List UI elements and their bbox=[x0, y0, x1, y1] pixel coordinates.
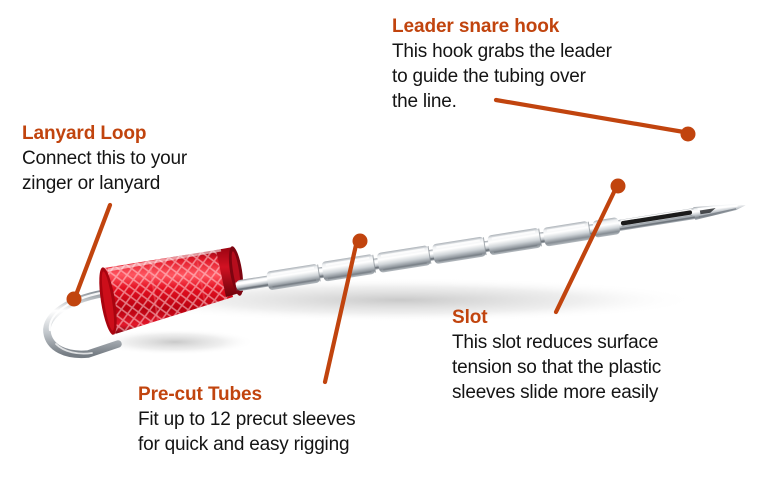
callout-title-pre-cut-tubes: Pre-cut Tubes bbox=[138, 383, 355, 406]
callout-dot-hook bbox=[681, 127, 696, 142]
callout-title-lanyard-loop: Lanyard Loop bbox=[22, 122, 187, 145]
callout-line: the line. bbox=[392, 89, 612, 114]
callout-dot-tubes bbox=[353, 234, 368, 249]
callout-pre-cut-tubes: Pre-cut Tubes Fit up to 12 precut sleeve… bbox=[138, 383, 355, 457]
callout-line: tension so that the plastic bbox=[452, 355, 661, 380]
product-illustration bbox=[0, 0, 768, 482]
callout-body-lanyard-loop: Connect this to your zinger or lanyard bbox=[22, 146, 187, 196]
callout-line: sleeves slide more easily bbox=[452, 380, 661, 405]
callout-body-slot: This slot reduces surface tension so tha… bbox=[452, 330, 661, 405]
callout-line: for quick and easy rigging bbox=[138, 432, 355, 457]
callout-line: zinger or lanyard bbox=[22, 171, 187, 196]
callout-line: This hook grabs the leader bbox=[392, 39, 612, 64]
callout-dot-slot bbox=[611, 179, 626, 194]
callout-body-leader-snare-hook: This hook grabs the leader to guide the … bbox=[392, 39, 612, 114]
callout-lanyard-loop: Lanyard Loop Connect this to your zinger… bbox=[22, 122, 187, 196]
callout-leader-snare-hook: Leader snare hook This hook grabs the le… bbox=[392, 15, 612, 114]
callout-line: Fit up to 12 precut sleeves bbox=[138, 407, 355, 432]
leader-snare-hook-tip bbox=[693, 199, 746, 220]
callout-line: Connect this to your bbox=[22, 146, 187, 171]
callout-line: This slot reduces surface bbox=[452, 330, 661, 355]
callout-title-slot: Slot bbox=[452, 306, 661, 329]
callout-dot-lanyard bbox=[67, 292, 82, 307]
diagram-stage: Lanyard Loop Connect this to your zinger… bbox=[0, 0, 768, 482]
callout-slot: Slot This slot reduces surface tension s… bbox=[452, 306, 661, 405]
callout-body-pre-cut-tubes: Fit up to 12 precut sleeves for quick an… bbox=[138, 407, 355, 457]
callout-title-leader-snare-hook: Leader snare hook bbox=[392, 15, 612, 38]
callout-line: to guide the tubing over bbox=[392, 64, 612, 89]
